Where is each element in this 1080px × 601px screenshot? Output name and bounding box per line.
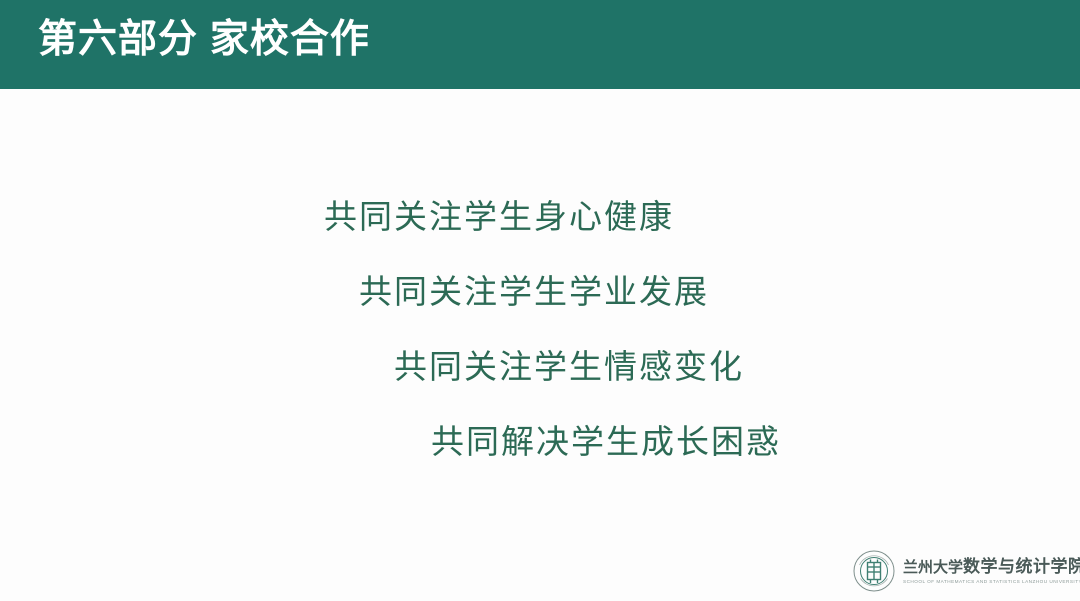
logo-department-cn: 数学与统计学院: [963, 557, 1080, 576]
logo-title-line: 兰州大学数学与统计学院: [903, 558, 1080, 577]
logo-organization-cn: 兰州大学: [903, 560, 963, 576]
logo-text-block: 兰州大学数学与统计学院 SCHOOL OF MATHEMATICS AND ST…: [903, 558, 1080, 585]
content-line: 共同关注学生身心健康: [324, 202, 674, 235]
content-line: 共同关注学生学业发展: [359, 277, 709, 310]
header-band: 第六部分 家校合作: [0, 0, 1080, 89]
page-title: 第六部分 家校合作: [38, 17, 370, 64]
logo-subtitle-en: SCHOOL OF MATHEMATICS AND STATISTICS LAN…: [903, 579, 1080, 584]
content-area: 共同关注学生身心健康 共同关注学生学业发展 共同关注学生情感变化 共同解决学生成…: [0, 89, 1080, 601]
slide: 第六部分 家校合作 共同关注学生身心健康 共同关注学生学业发展 共同关注学生情感…: [0, 0, 1080, 601]
content-line: 共同关注学生情感变化: [394, 352, 744, 385]
footer-logo: 兰州大学数学与统计学院 SCHOOL OF MATHEMATICS AND ST…: [853, 547, 1075, 595]
university-seal-icon: [853, 550, 895, 592]
content-line: 共同解决学生成长困惑: [431, 427, 781, 460]
